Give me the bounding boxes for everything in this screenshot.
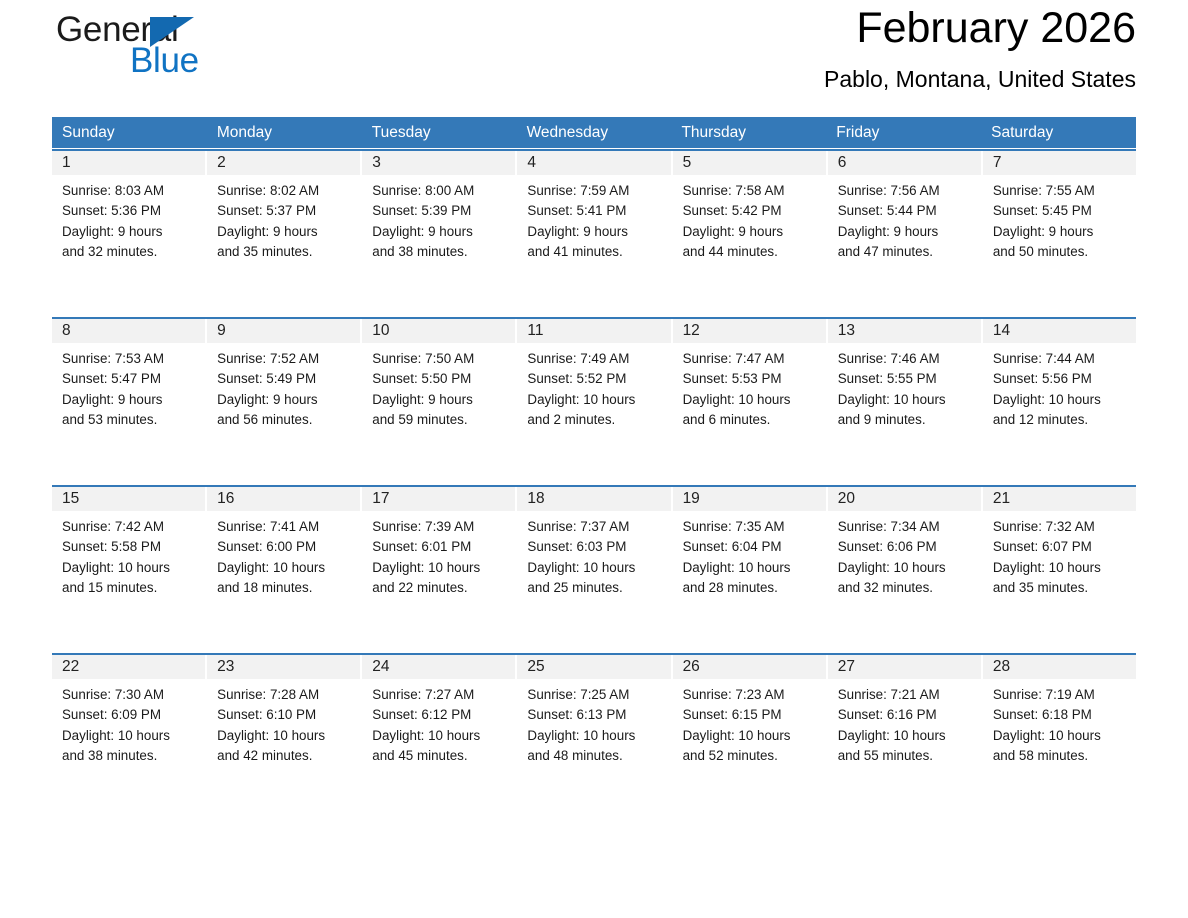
day-cell[interactable]: 26 Sunrise: 7:23 AM Sunset: 6:15 PM Dayl…: [673, 655, 826, 775]
sunrise-text: Sunrise: 7:32 AM: [993, 517, 1128, 537]
daylight-text-line2: and 41 minutes.: [527, 242, 662, 262]
weekday-header-friday: Friday: [826, 117, 981, 148]
daylight-text-line2: and 50 minutes.: [993, 242, 1128, 262]
daylight-text-line2: and 9 minutes.: [838, 410, 973, 430]
sunrise-text: Sunrise: 7:39 AM: [372, 517, 507, 537]
day-number: 5: [673, 151, 826, 175]
sunrise-text: Sunrise: 7:56 AM: [838, 181, 973, 201]
day-number: 15: [52, 487, 205, 511]
sunrise-text: Sunrise: 8:02 AM: [217, 181, 352, 201]
logo-text-blue: Blue: [130, 41, 199, 81]
sunset-text: Sunset: 6:03 PM: [527, 537, 662, 557]
sunset-text: Sunset: 6:01 PM: [372, 537, 507, 557]
generalblue-logo[interactable]: General Blue: [52, 10, 232, 82]
day-details: Sunrise: 7:39 AM Sunset: 6:01 PM Dayligh…: [362, 511, 515, 598]
sunset-text: Sunset: 5:39 PM: [372, 201, 507, 221]
day-details: Sunrise: 7:50 AM Sunset: 5:50 PM Dayligh…: [362, 343, 515, 430]
day-number: 16: [207, 487, 360, 511]
daylight-text-line1: Daylight: 10 hours: [993, 390, 1128, 410]
daylight-text-line2: and 42 minutes.: [217, 746, 352, 766]
daylight-text-line1: Daylight: 9 hours: [372, 390, 507, 410]
day-details: Sunrise: 7:53 AM Sunset: 5:47 PM Dayligh…: [52, 343, 205, 430]
sunrise-text: Sunrise: 7:30 AM: [62, 685, 197, 705]
day-details: Sunrise: 7:41 AM Sunset: 6:00 PM Dayligh…: [207, 511, 360, 598]
day-details: Sunrise: 7:44 AM Sunset: 5:56 PM Dayligh…: [983, 343, 1136, 430]
day-details: Sunrise: 7:55 AM Sunset: 5:45 PM Dayligh…: [983, 175, 1136, 262]
daylight-text-line1: Daylight: 10 hours: [838, 726, 973, 746]
day-number: 19: [673, 487, 826, 511]
daylight-text-line1: Daylight: 10 hours: [683, 390, 818, 410]
day-cell[interactable]: 5 Sunrise: 7:58 AM Sunset: 5:42 PM Dayli…: [673, 151, 826, 316]
page-title: February 2026: [824, 2, 1136, 54]
sunset-text: Sunset: 5:44 PM: [838, 201, 973, 221]
day-details: Sunrise: 7:47 AM Sunset: 5:53 PM Dayligh…: [673, 343, 826, 430]
day-number: 8: [52, 319, 205, 343]
daylight-text-line1: Daylight: 10 hours: [372, 726, 507, 746]
weekday-header-saturday: Saturday: [981, 117, 1136, 148]
day-details: Sunrise: 7:59 AM Sunset: 5:41 PM Dayligh…: [517, 175, 670, 262]
title-block: February 2026 Pablo, Montana, United Sta…: [824, 0, 1136, 94]
sunset-text: Sunset: 6:13 PM: [527, 705, 662, 725]
sunrise-text: Sunrise: 7:46 AM: [838, 349, 973, 369]
daylight-text-line2: and 35 minutes.: [993, 578, 1128, 598]
day-cell[interactable]: 21 Sunrise: 7:32 AM Sunset: 6:07 PM Dayl…: [983, 487, 1136, 652]
day-details: Sunrise: 7:56 AM Sunset: 5:44 PM Dayligh…: [828, 175, 981, 262]
calendar-page: General Blue February 2026 Pablo, Montan…: [0, 0, 1188, 918]
day-number: 22: [52, 655, 205, 679]
sunset-text: Sunset: 6:15 PM: [683, 705, 818, 725]
day-number: 14: [983, 319, 1136, 343]
daylight-text-line2: and 28 minutes.: [683, 578, 818, 598]
day-number: 26: [673, 655, 826, 679]
sunset-text: Sunset: 6:10 PM: [217, 705, 352, 725]
day-details: Sunrise: 7:35 AM Sunset: 6:04 PM Dayligh…: [673, 511, 826, 598]
sunrise-text: Sunrise: 7:27 AM: [372, 685, 507, 705]
sunset-text: Sunset: 6:09 PM: [62, 705, 197, 725]
weekday-header-row: Sunday Monday Tuesday Wednesday Thursday…: [52, 117, 1136, 148]
day-number: 7: [983, 151, 1136, 175]
daylight-text-line1: Daylight: 9 hours: [683, 222, 818, 242]
day-cell[interactable]: 10 Sunrise: 7:50 AM Sunset: 5:50 PM Dayl…: [362, 319, 515, 484]
sunset-text: Sunset: 5:53 PM: [683, 369, 818, 389]
sunrise-text: Sunrise: 7:44 AM: [993, 349, 1128, 369]
day-number: 28: [983, 655, 1136, 679]
day-details: Sunrise: 7:49 AM Sunset: 5:52 PM Dayligh…: [517, 343, 670, 430]
day-number: 1: [52, 151, 205, 175]
sunset-text: Sunset: 5:52 PM: [527, 369, 662, 389]
week-row: 1 Sunrise: 8:03 AM Sunset: 5:36 PM Dayli…: [52, 149, 1136, 316]
sunset-text: Sunset: 6:16 PM: [838, 705, 973, 725]
sunrise-text: Sunrise: 7:35 AM: [683, 517, 818, 537]
day-cell[interactable]: 16 Sunrise: 7:41 AM Sunset: 6:00 PM Dayl…: [207, 487, 360, 652]
daylight-text-line2: and 32 minutes.: [838, 578, 973, 598]
daylight-text-line1: Daylight: 10 hours: [62, 558, 197, 578]
day-details: Sunrise: 8:03 AM Sunset: 5:36 PM Dayligh…: [52, 175, 205, 262]
daylight-text-line1: Daylight: 10 hours: [217, 726, 352, 746]
daylight-text-line1: Daylight: 10 hours: [62, 726, 197, 746]
daylight-text-line2: and 53 minutes.: [62, 410, 197, 430]
daylight-text-line2: and 52 minutes.: [683, 746, 818, 766]
sunset-text: Sunset: 5:50 PM: [372, 369, 507, 389]
sunrise-text: Sunrise: 7:23 AM: [683, 685, 818, 705]
sunrise-text: Sunrise: 7:49 AM: [527, 349, 662, 369]
week-row: 15 Sunrise: 7:42 AM Sunset: 5:58 PM Dayl…: [52, 485, 1136, 652]
daylight-text-line2: and 45 minutes.: [372, 746, 507, 766]
day-details: Sunrise: 7:34 AM Sunset: 6:06 PM Dayligh…: [828, 511, 981, 598]
weekday-header-tuesday: Tuesday: [362, 117, 517, 148]
sunrise-text: Sunrise: 7:21 AM: [838, 685, 973, 705]
day-number: 20: [828, 487, 981, 511]
day-cell[interactable]: 8 Sunrise: 7:53 AM Sunset: 5:47 PM Dayli…: [52, 319, 205, 484]
day-number: 12: [673, 319, 826, 343]
day-cell[interactable]: 22 Sunrise: 7:30 AM Sunset: 6:09 PM Dayl…: [52, 655, 205, 775]
day-cell[interactable]: 11 Sunrise: 7:49 AM Sunset: 5:52 PM Dayl…: [517, 319, 670, 484]
weekday-header-monday: Monday: [207, 117, 362, 148]
sunrise-text: Sunrise: 7:42 AM: [62, 517, 197, 537]
daylight-text-line1: Daylight: 9 hours: [527, 222, 662, 242]
day-details: Sunrise: 8:00 AM Sunset: 5:39 PM Dayligh…: [362, 175, 515, 262]
sunrise-text: Sunrise: 7:37 AM: [527, 517, 662, 537]
daylight-text-line2: and 38 minutes.: [62, 746, 197, 766]
daylight-text-line2: and 35 minutes.: [217, 242, 352, 262]
daylight-text-line2: and 44 minutes.: [683, 242, 818, 262]
day-cell[interactable]: 13 Sunrise: 7:46 AM Sunset: 5:55 PM Dayl…: [828, 319, 981, 484]
daylight-text-line1: Daylight: 10 hours: [838, 390, 973, 410]
day-details: Sunrise: 7:23 AM Sunset: 6:15 PM Dayligh…: [673, 679, 826, 766]
daylight-text-line2: and 55 minutes.: [838, 746, 973, 766]
daylight-text-line2: and 56 minutes.: [217, 410, 352, 430]
sunrise-text: Sunrise: 7:55 AM: [993, 181, 1128, 201]
weekday-header-wednesday: Wednesday: [517, 117, 672, 148]
day-number: 21: [983, 487, 1136, 511]
sunset-text: Sunset: 5:37 PM: [217, 201, 352, 221]
sunrise-text: Sunrise: 7:53 AM: [62, 349, 197, 369]
location-subtitle: Pablo, Montana, United States: [824, 64, 1136, 94]
day-cell[interactable]: 24 Sunrise: 7:27 AM Sunset: 6:12 PM Dayl…: [362, 655, 515, 775]
daylight-text-line2: and 12 minutes.: [993, 410, 1128, 430]
sunset-text: Sunset: 5:47 PM: [62, 369, 197, 389]
sunrise-text: Sunrise: 8:00 AM: [372, 181, 507, 201]
day-cell[interactable]: 15 Sunrise: 7:42 AM Sunset: 5:58 PM Dayl…: [52, 487, 205, 652]
day-cell[interactable]: 3 Sunrise: 8:00 AM Sunset: 5:39 PM Dayli…: [362, 151, 515, 316]
week-row: 8 Sunrise: 7:53 AM Sunset: 5:47 PM Dayli…: [52, 317, 1136, 484]
day-number: 17: [362, 487, 515, 511]
sunrise-text: Sunrise: 7:47 AM: [683, 349, 818, 369]
sunrise-text: Sunrise: 8:03 AM: [62, 181, 197, 201]
day-number: 9: [207, 319, 360, 343]
daylight-text-line2: and 59 minutes.: [372, 410, 507, 430]
daylight-text-line1: Daylight: 10 hours: [217, 558, 352, 578]
sunrise-text: Sunrise: 7:59 AM: [527, 181, 662, 201]
daylight-text-line1: Daylight: 9 hours: [838, 222, 973, 242]
week-row: 22 Sunrise: 7:30 AM Sunset: 6:09 PM Dayl…: [52, 653, 1136, 775]
sunset-text: Sunset: 6:12 PM: [372, 705, 507, 725]
day-number: 2: [207, 151, 360, 175]
daylight-text-line1: Daylight: 10 hours: [993, 726, 1128, 746]
sunrise-text: Sunrise: 7:58 AM: [683, 181, 818, 201]
daylight-text-line1: Daylight: 10 hours: [527, 726, 662, 746]
sunrise-text: Sunrise: 7:34 AM: [838, 517, 973, 537]
daylight-text-line2: and 38 minutes.: [372, 242, 507, 262]
sunset-text: Sunset: 6:07 PM: [993, 537, 1128, 557]
day-number: 24: [362, 655, 515, 679]
day-cell[interactable]: 19 Sunrise: 7:35 AM Sunset: 6:04 PM Dayl…: [673, 487, 826, 652]
sunset-text: Sunset: 5:58 PM: [62, 537, 197, 557]
day-details: Sunrise: 7:27 AM Sunset: 6:12 PM Dayligh…: [362, 679, 515, 766]
day-details: Sunrise: 7:30 AM Sunset: 6:09 PM Dayligh…: [52, 679, 205, 766]
sunset-text: Sunset: 5:41 PM: [527, 201, 662, 221]
day-number: 23: [207, 655, 360, 679]
daylight-text-line1: Daylight: 9 hours: [217, 222, 352, 242]
daylight-text-line1: Daylight: 9 hours: [62, 222, 197, 242]
sunset-text: Sunset: 6:00 PM: [217, 537, 352, 557]
daylight-text-line2: and 2 minutes.: [527, 410, 662, 430]
day-number: 10: [362, 319, 515, 343]
day-number: 6: [828, 151, 981, 175]
day-number: 3: [362, 151, 515, 175]
day-details: Sunrise: 7:32 AM Sunset: 6:07 PM Dayligh…: [983, 511, 1136, 598]
daylight-text-line2: and 15 minutes.: [62, 578, 197, 598]
sunset-text: Sunset: 6:18 PM: [993, 705, 1128, 725]
day-cell[interactable]: 14 Sunrise: 7:44 AM Sunset: 5:56 PM Dayl…: [983, 319, 1136, 484]
daylight-text-line2: and 47 minutes.: [838, 242, 973, 262]
day-cell[interactable]: 1 Sunrise: 8:03 AM Sunset: 5:36 PM Dayli…: [52, 151, 205, 316]
daylight-text-line1: Daylight: 10 hours: [993, 558, 1128, 578]
daylight-text-line1: Daylight: 10 hours: [527, 390, 662, 410]
day-details: Sunrise: 8:02 AM Sunset: 5:37 PM Dayligh…: [207, 175, 360, 262]
day-number: 18: [517, 487, 670, 511]
daylight-text-line1: Daylight: 10 hours: [838, 558, 973, 578]
day-cell[interactable]: 25 Sunrise: 7:25 AM Sunset: 6:13 PM Dayl…: [517, 655, 670, 775]
sunset-text: Sunset: 5:45 PM: [993, 201, 1128, 221]
daylight-text-line1: Daylight: 9 hours: [217, 390, 352, 410]
day-number: 25: [517, 655, 670, 679]
daylight-text-line1: Daylight: 10 hours: [372, 558, 507, 578]
daylight-text-line2: and 48 minutes.: [527, 746, 662, 766]
daylight-text-line1: Daylight: 9 hours: [372, 222, 507, 242]
sunrise-text: Sunrise: 7:52 AM: [217, 349, 352, 369]
day-cell[interactable]: 20 Sunrise: 7:34 AM Sunset: 6:06 PM Dayl…: [828, 487, 981, 652]
sunset-text: Sunset: 5:55 PM: [838, 369, 973, 389]
day-cell[interactable]: 27 Sunrise: 7:21 AM Sunset: 6:16 PM Dayl…: [828, 655, 981, 775]
day-cell[interactable]: 12 Sunrise: 7:47 AM Sunset: 5:53 PM Dayl…: [673, 319, 826, 484]
daylight-text-line1: Daylight: 10 hours: [527, 558, 662, 578]
day-number: 4: [517, 151, 670, 175]
sunrise-text: Sunrise: 7:41 AM: [217, 517, 352, 537]
weekday-header-thursday: Thursday: [671, 117, 826, 148]
sunset-text: Sunset: 6:06 PM: [838, 537, 973, 557]
sunset-text: Sunset: 5:42 PM: [683, 201, 818, 221]
sunset-text: Sunset: 5:36 PM: [62, 201, 197, 221]
daylight-text-line2: and 58 minutes.: [993, 746, 1128, 766]
sunrise-text: Sunrise: 7:19 AM: [993, 685, 1128, 705]
daylight-text-line2: and 6 minutes.: [683, 410, 818, 430]
day-cell[interactable]: 17 Sunrise: 7:39 AM Sunset: 6:01 PM Dayl…: [362, 487, 515, 652]
sunset-text: Sunset: 5:49 PM: [217, 369, 352, 389]
day-details: Sunrise: 7:46 AM Sunset: 5:55 PM Dayligh…: [828, 343, 981, 430]
day-details: Sunrise: 7:21 AM Sunset: 6:16 PM Dayligh…: [828, 679, 981, 766]
daylight-text-line2: and 25 minutes.: [527, 578, 662, 598]
day-details: Sunrise: 7:19 AM Sunset: 6:18 PM Dayligh…: [983, 679, 1136, 766]
day-cell[interactable]: 28 Sunrise: 7:19 AM Sunset: 6:18 PM Dayl…: [983, 655, 1136, 775]
sunrise-text: Sunrise: 7:28 AM: [217, 685, 352, 705]
daylight-text-line1: Daylight: 9 hours: [62, 390, 197, 410]
day-cell[interactable]: 6 Sunrise: 7:56 AM Sunset: 5:44 PM Dayli…: [828, 151, 981, 316]
day-cell[interactable]: 7 Sunrise: 7:55 AM Sunset: 5:45 PM Dayli…: [983, 151, 1136, 316]
daylight-text-line1: Daylight: 9 hours: [993, 222, 1128, 242]
day-number: 27: [828, 655, 981, 679]
day-details: Sunrise: 7:37 AM Sunset: 6:03 PM Dayligh…: [517, 511, 670, 598]
weekday-header-sunday: Sunday: [52, 117, 207, 148]
day-details: Sunrise: 7:28 AM Sunset: 6:10 PM Dayligh…: [207, 679, 360, 766]
day-details: Sunrise: 7:58 AM Sunset: 5:42 PM Dayligh…: [673, 175, 826, 262]
day-cell[interactable]: 9 Sunrise: 7:52 AM Sunset: 5:49 PM Dayli…: [207, 319, 360, 484]
day-cell[interactable]: 18 Sunrise: 7:37 AM Sunset: 6:03 PM Dayl…: [517, 487, 670, 652]
day-cell[interactable]: 23 Sunrise: 7:28 AM Sunset: 6:10 PM Dayl…: [207, 655, 360, 775]
sunset-text: Sunset: 6:04 PM: [683, 537, 818, 557]
day-details: Sunrise: 7:42 AM Sunset: 5:58 PM Dayligh…: [52, 511, 205, 598]
day-number: 11: [517, 319, 670, 343]
sunrise-text: Sunrise: 7:25 AM: [527, 685, 662, 705]
day-cell[interactable]: 4 Sunrise: 7:59 AM Sunset: 5:41 PM Dayli…: [517, 151, 670, 316]
day-cell[interactable]: 2 Sunrise: 8:02 AM Sunset: 5:37 PM Dayli…: [207, 151, 360, 316]
sunrise-sunset-calendar: Sunday Monday Tuesday Wednesday Thursday…: [52, 117, 1136, 775]
daylight-text-line2: and 18 minutes.: [217, 578, 352, 598]
daylight-text-line2: and 22 minutes.: [372, 578, 507, 598]
day-number: 13: [828, 319, 981, 343]
daylight-text-line1: Daylight: 10 hours: [683, 558, 818, 578]
page-header: General Blue February 2026 Pablo, Montan…: [52, 0, 1136, 110]
sunset-text: Sunset: 5:56 PM: [993, 369, 1128, 389]
daylight-text-line1: Daylight: 10 hours: [683, 726, 818, 746]
sunrise-text: Sunrise: 7:50 AM: [372, 349, 507, 369]
daylight-text-line2: and 32 minutes.: [62, 242, 197, 262]
day-details: Sunrise: 7:25 AM Sunset: 6:13 PM Dayligh…: [517, 679, 670, 766]
day-details: Sunrise: 7:52 AM Sunset: 5:49 PM Dayligh…: [207, 343, 360, 430]
